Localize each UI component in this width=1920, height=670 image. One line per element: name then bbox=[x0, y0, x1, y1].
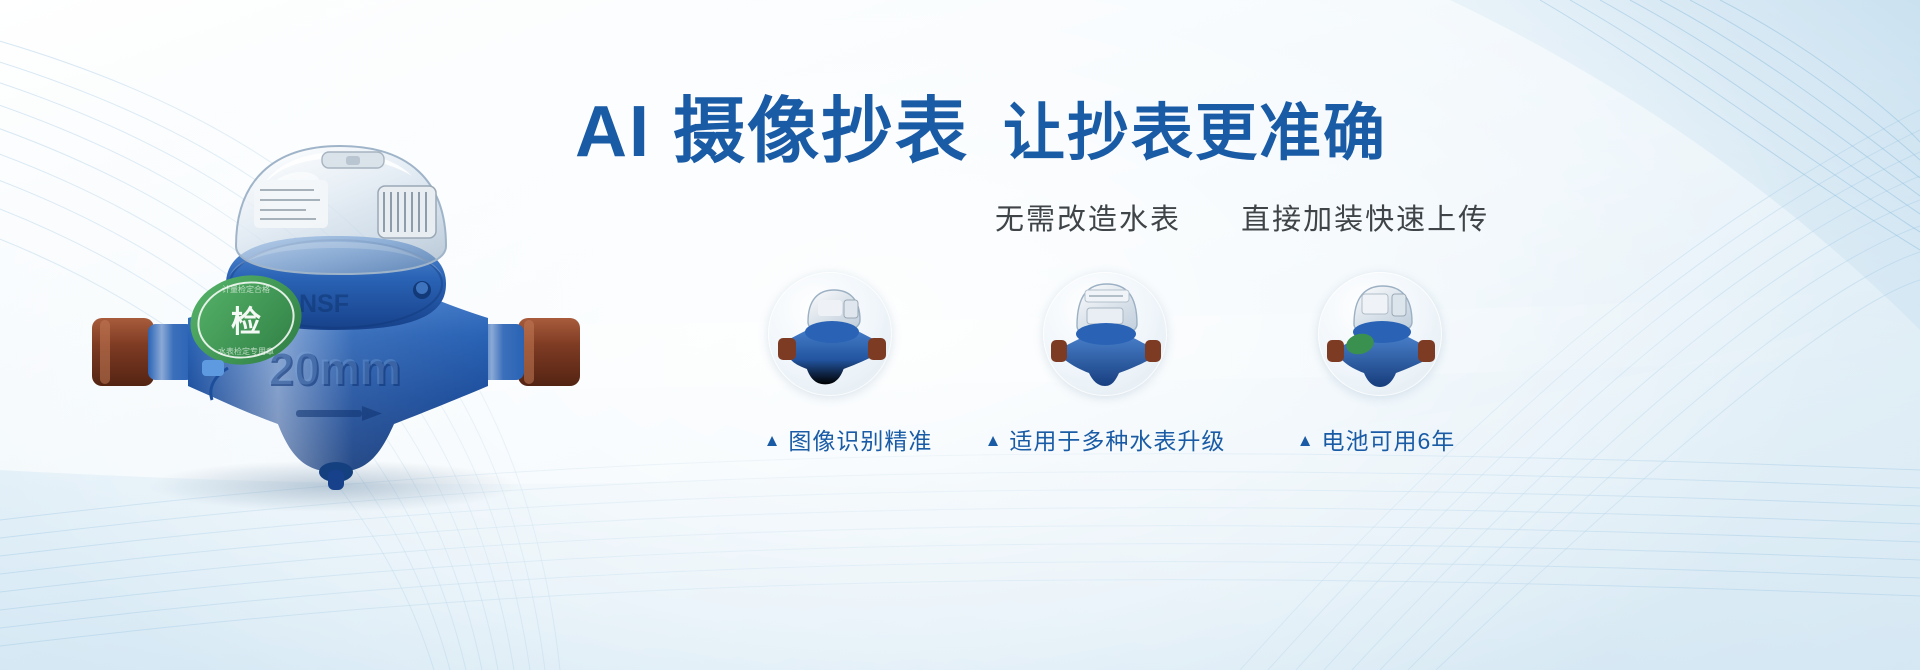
camera-module bbox=[378, 186, 436, 238]
subheadline: 无需改造水表 直接加装快速上传 bbox=[995, 196, 1865, 238]
meter-inlet-connector bbox=[92, 318, 194, 386]
subheadline-part-2: 直接加装快速上传 bbox=[1241, 204, 1489, 236]
triangle-bullet-icon: ▲ bbox=[1297, 432, 1315, 449]
ai-camera-dome bbox=[236, 146, 446, 274]
dome-label-card bbox=[254, 180, 328, 228]
hero-product-image: 20mm 20mm NSF bbox=[78, 68, 598, 518]
headline-block: AI 摄像抄表 让抄表更准确 无需改造水表 直接加装快速上传 bbox=[575, 96, 1865, 238]
feature-label-3: 电池可用6年 bbox=[1322, 422, 1456, 456]
meter-brand-emboss: NSF bbox=[299, 290, 349, 318]
headline-main: AI 摄像抄表 bbox=[575, 96, 969, 168]
feature-caption-3: ▲ 电池可用6年 bbox=[1297, 422, 1456, 456]
svg-text:20mm: 20mm bbox=[268, 342, 401, 394]
feature-image-2 bbox=[1043, 272, 1167, 396]
feature-image-1 bbox=[768, 272, 892, 396]
seal-character: 检 bbox=[231, 305, 261, 340]
feature-label-2: 适用于多种水表升级 bbox=[1009, 422, 1225, 456]
subheadline-part-1: 无需改造水表 bbox=[995, 204, 1181, 236]
feature-caption-1: ▲ 图像识别精准 bbox=[764, 422, 933, 456]
meter-outlet-connector bbox=[478, 318, 580, 386]
headline-secondary: 让抄表更准确 bbox=[1003, 103, 1387, 168]
feature-item: ▲ 图像识别精准 bbox=[760, 272, 900, 456]
feature-item: ▲ 适用于多种水表升级 bbox=[1035, 272, 1175, 456]
feature-item: ▲ 电池可用6年 bbox=[1310, 272, 1450, 456]
feature-label-1: 图像识别精准 bbox=[788, 422, 932, 456]
svg-text:水表检定专用章: 水表检定专用章 bbox=[218, 346, 274, 356]
feature-image-3 bbox=[1318, 272, 1442, 396]
svg-text:计量检定合格: 计量检定合格 bbox=[222, 284, 270, 294]
feature-caption-2: ▲ 适用于多种水表升级 bbox=[985, 422, 1226, 456]
triangle-bullet-icon: ▲ bbox=[764, 432, 782, 449]
headline: AI 摄像抄表 让抄表更准确 bbox=[575, 96, 1865, 168]
promo-banner: 20mm 20mm NSF bbox=[0, 0, 1920, 670]
lead-connector bbox=[202, 360, 224, 376]
triangle-bullet-icon: ▲ bbox=[985, 432, 1003, 449]
feature-list: ▲ 图像识别精准 bbox=[760, 272, 1450, 456]
